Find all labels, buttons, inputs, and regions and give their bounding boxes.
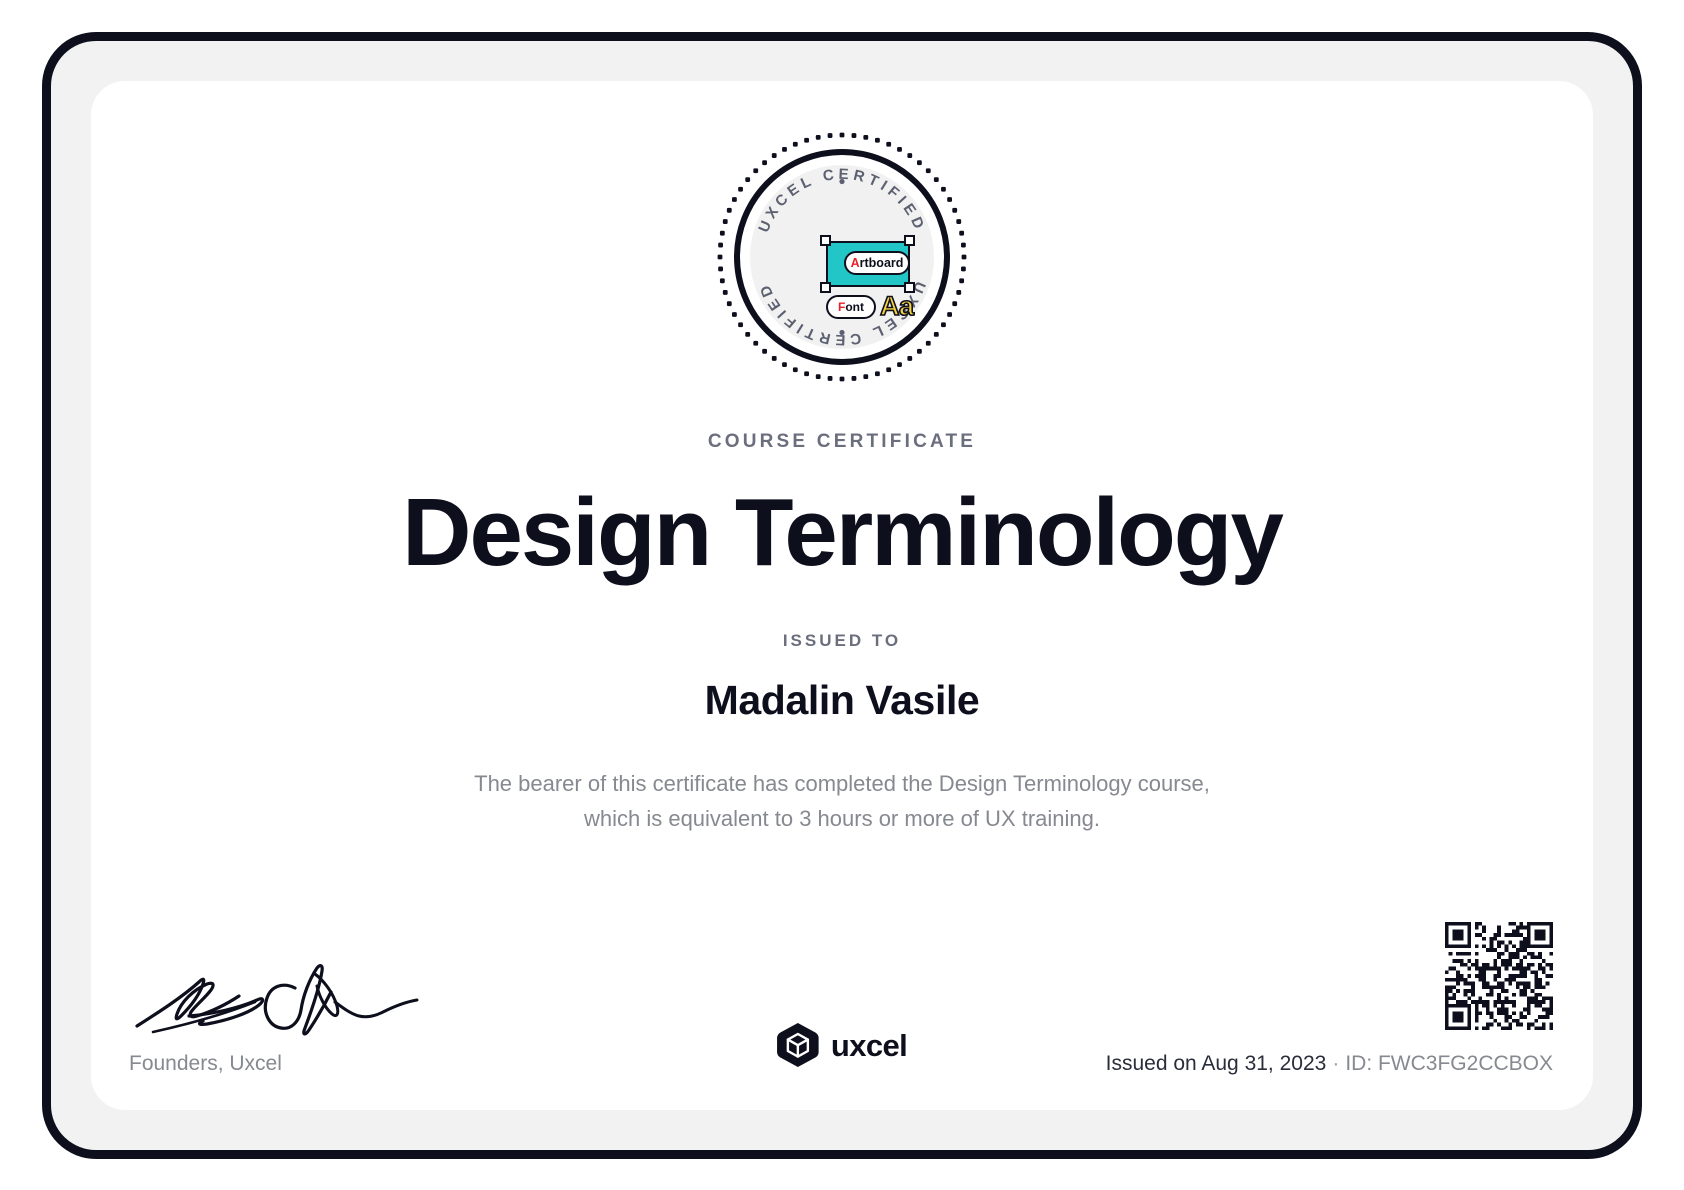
founders-signature-icon [129,958,429,1038]
certificate-outer-frame: UXCEL CERTIFIED UXCEL CERTIFIED [42,32,1642,1159]
certificate-description: The bearer of this certificate has compl… [474,766,1210,837]
artboard-handle-top-right [904,235,915,246]
course-title: Design Terminology [402,483,1282,583]
certificate-meta-block: Issued on Aug 31, 2023·ID: FWC3FG2CCBOX [1106,922,1553,1076]
description-line-2: which is equivalent to 3 hours or more o… [584,806,1100,831]
description-line-1: The bearer of this certificate has compl… [474,771,1210,796]
signature-caption: Founders, Uxcel [129,1052,429,1076]
certificate-id: ID: FWC3FG2CCBOX [1345,1052,1553,1075]
aa-type-sample: Aa [880,293,914,320]
certificate-card: UXCEL CERTIFIED UXCEL CERTIFIED [91,81,1593,1110]
badge-dot-separator-top [839,179,844,184]
badge-ring-text-top: UXCEL CERTIFIED [755,166,928,235]
font-label-rest: ont [845,301,864,313]
recipient-name: Madalin Vasile [705,677,980,724]
artboard-font-icon: Artboard Font Aa [818,239,918,331]
uxcel-hexagon-cube-icon [777,1022,819,1068]
font-label-pill: Font [826,295,876,319]
signature-block: Founders, Uxcel [129,958,429,1076]
issued-to-label: ISSUED TO [783,631,901,651]
artboard-label-rest: rtboard [860,257,904,270]
svg-text:UXCEL CERTIFIED: UXCEL CERTIFIED [755,166,928,235]
artboard-label-pill: Artboard [844,251,910,275]
artboard-label-highlight: A [851,257,860,270]
verification-qr-code[interactable] [1445,922,1553,1030]
uxcel-brand-logo: uxcel [777,1022,907,1068]
badge-face: UXCEL CERTIFIED UXCEL CERTIFIED [734,149,950,365]
artboard-handle-bottom-left [820,282,831,293]
issued-on-date: Issued on Aug 31, 2023 [1106,1052,1327,1075]
artboard-handle-top-left [820,235,831,246]
certificate-kicker: COURSE CERTIFICATE [708,431,976,453]
certificate-footer: Founders, Uxcel uxcel [91,906,1593,1076]
uxcel-certified-badge: UXCEL CERTIFIED UXCEL CERTIFIED [708,123,976,391]
font-label-highlight: F [838,301,845,313]
meta-separator: · [1332,1052,1339,1075]
uxcel-wordmark: uxcel [831,1030,907,1061]
issue-meta-line: Issued on Aug 31, 2023·ID: FWC3FG2CCBOX [1106,1052,1553,1076]
